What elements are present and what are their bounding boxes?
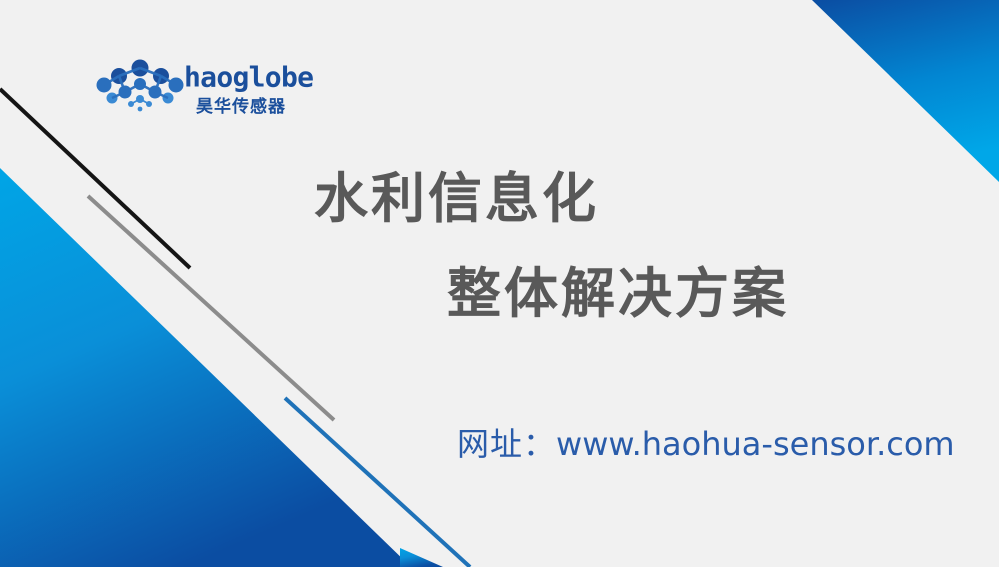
website-label: 网址：	[457, 425, 556, 463]
title-line-1: 水利信息化	[314, 172, 599, 226]
website-url: www.haohua-sensor.com	[556, 425, 955, 463]
website-line: 网址：www.haohua-sensor.com	[457, 419, 955, 465]
bottom-blue-wedge-shape	[400, 548, 443, 567]
title-line-2: 整体解决方案	[447, 267, 789, 321]
top-right-triangle-shape	[812, 0, 999, 182]
network-nodes-logo-icon	[96, 59, 184, 115]
logo-wordmark-text: haoglobe	[184, 60, 313, 93]
presentation-slide: haoglobe 昊华传感器 水利信息化 整体解决方案 网址：www.haohu…	[0, 0, 999, 567]
logo-chinese-name: 昊华传感器	[196, 92, 286, 117]
